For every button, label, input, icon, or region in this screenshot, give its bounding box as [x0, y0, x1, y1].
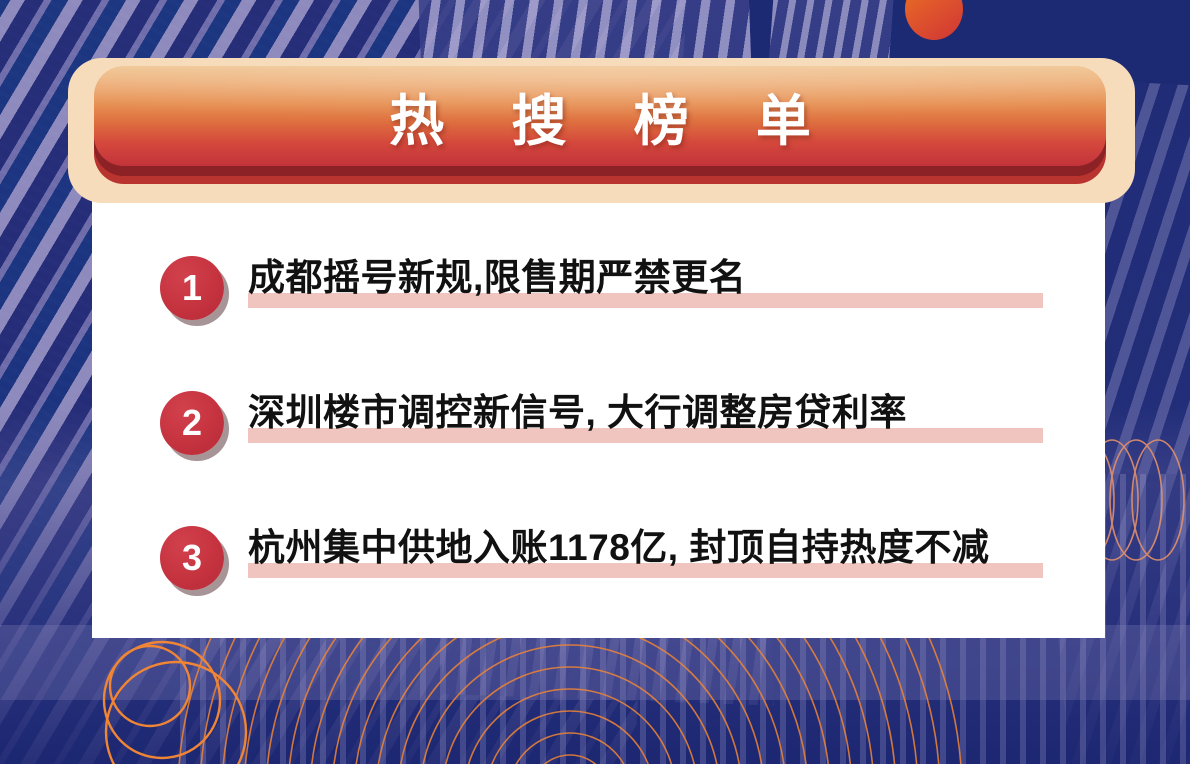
hot-search-list: 1 成都摇号新规,限售期严禁更名 2 深圳楼市调控新信号, 大行调整房贷利率 — [92, 130, 1105, 638]
rank-badge-wrap: 1 — [160, 256, 230, 326]
list-item[interactable]: 1 成都摇号新规,限售期严禁更名 — [92, 245, 1105, 345]
hot-search-ranking-poster: 热 搜 榜 单 1 成都摇号新规,限售期严禁更名 2 深圳楼市调控新 — [0, 0, 1190, 764]
rank-number: 3 — [182, 540, 202, 576]
list-item[interactable]: 2 深圳楼市调控新信号, 大行调整房贷利率 — [92, 380, 1105, 480]
rank-badge: 3 — [160, 526, 224, 590]
headline-wrap: 深圳楼市调控新信号, 大行调整房贷利率 — [248, 380, 1048, 460]
headline-wrap: 杭州集中供地入账1178亿, 封顶自持热度不减 — [248, 515, 1048, 595]
headline-text[interactable]: 成都摇号新规,限售期严禁更名 — [248, 247, 746, 301]
list-item[interactable]: 3 杭州集中供地入账1178亿, 封顶自持热度不减 — [92, 515, 1105, 615]
headline-wrap: 成都摇号新规,限售期严禁更名 — [248, 245, 1048, 325]
headline-text[interactable]: 深圳楼市调控新信号, 大行调整房贷利率 — [248, 382, 907, 436]
rank-number: 1 — [182, 270, 202, 306]
headline-text[interactable]: 杭州集中供地入账1178亿, 封顶自持热度不减 — [248, 517, 989, 571]
rank-badge: 2 — [160, 391, 224, 455]
rank-badge-wrap: 2 — [160, 391, 230, 461]
rank-badge-wrap: 3 — [160, 526, 230, 596]
rank-badge: 1 — [160, 256, 224, 320]
rank-number: 2 — [182, 405, 202, 441]
